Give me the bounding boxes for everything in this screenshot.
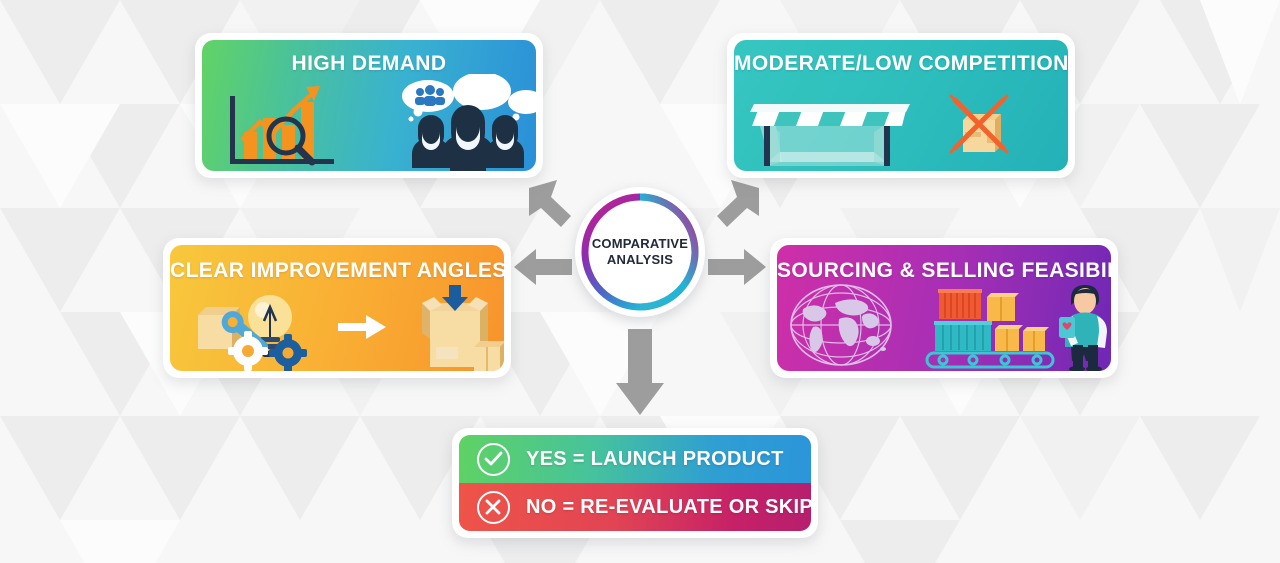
card-sourcing-selling-feasibility[interactable]: SOURCING & SELLING FEASIBILITY: [770, 238, 1118, 378]
globe-world-map-icon: [791, 285, 891, 365]
result-box-body: YES = LAUNCH PRODUCT NO = RE-EVALUATE OR…: [459, 435, 811, 531]
bar-chart-magnifier-icon: [230, 86, 334, 164]
card-moderate-low-competition-art: [734, 74, 1068, 171]
center-node-comparative-analysis[interactable]: COMPARATIVE ANALYSIS: [575, 187, 705, 317]
card-high-demand-title: HIGH DEMAND: [202, 52, 536, 76]
result-yes-label: YES = LAUNCH PRODUCT: [526, 448, 784, 471]
person-tablet-icon: [1059, 285, 1107, 371]
box-wrench-bulb-gears-icon: [198, 295, 307, 371]
card-sourcing-selling-feasibility-body: SOURCING & SELLING FEASIBILITY: [777, 245, 1111, 371]
conveyor-containers-icon: [927, 289, 1053, 367]
card-sourcing-selling-feasibility-art: [777, 279, 1111, 371]
card-moderate-low-competition-body: MODERATE/LOW COMPETITION: [734, 40, 1068, 171]
card-high-demand[interactable]: HIGH DEMAND: [195, 33, 543, 178]
card-high-demand-body: HIGH DEMAND: [202, 40, 536, 171]
card-clear-improvement-angles-art: [170, 279, 504, 371]
card-clear-improvement-angles[interactable]: CLEAR IMPROVEMENT ANGLES: [163, 238, 511, 378]
arrow-right-icon: [706, 245, 768, 289]
result-box[interactable]: YES = LAUNCH PRODUCT NO = RE-EVALUATE OR…: [452, 428, 818, 538]
card-moderate-low-competition[interactable]: MODERATE/LOW COMPETITION: [727, 33, 1075, 178]
card-clear-improvement-angles-body: CLEAR IMPROVEMENT ANGLES: [170, 245, 504, 371]
result-no-label: NO = RE-EVALUATE OR SKIP: [526, 496, 811, 519]
result-row-no[interactable]: NO = RE-EVALUATE OR SKIP: [459, 483, 811, 531]
check-circle-icon: [477, 443, 510, 476]
open-box-down-arrow-icon: [422, 283, 504, 371]
right-arrow-icon: [338, 315, 386, 339]
x-circle-icon: [477, 491, 510, 524]
card-moderate-low-competition-title: MODERATE/LOW COMPETITION: [734, 52, 1068, 76]
center-label-line-1: COMPARATIVE: [592, 236, 688, 252]
result-row-yes[interactable]: YES = LAUNCH PRODUCT: [459, 435, 811, 483]
infographic-canvas: HIGH DEMAND: [0, 0, 1280, 563]
market-stall-awning-icon: [750, 104, 910, 166]
card-high-demand-art: [202, 74, 536, 171]
small-box-icon: [474, 341, 504, 371]
crossed-swords-box-icon: [951, 96, 1007, 152]
center-label-line-2: ANALYSIS: [592, 252, 688, 268]
arrow-down-icon: [612, 325, 668, 417]
people-speech-bubbles-icon: [402, 74, 536, 171]
arrow-left-icon: [512, 245, 574, 289]
center-node-label: COMPARATIVE ANALYSIS: [592, 236, 688, 269]
